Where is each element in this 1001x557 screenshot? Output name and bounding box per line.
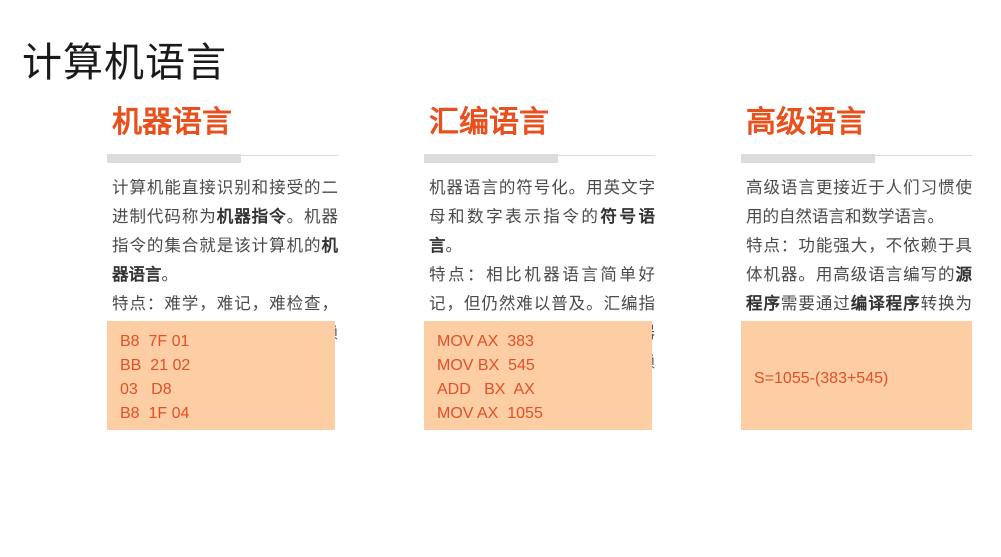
code-line: B8 1F 04 bbox=[120, 402, 335, 426]
paragraph: 高级语言更接近于人们习惯使用的自然语言和数学语言。 bbox=[746, 174, 972, 232]
code-line: MOV AX 383 bbox=[437, 330, 652, 354]
heading-divider bbox=[741, 154, 972, 166]
emphasis-term: 编译程序 bbox=[851, 295, 921, 313]
code-line: S=1055-(383+545) bbox=[754, 367, 972, 391]
code-block-assembly: MOV AX 383MOV BX 545ADD BX AXMOV AX 1055… bbox=[424, 321, 652, 430]
code-block-machine: B8 7F 01BB 21 0203 D8B8 1F 042B C3 bbox=[107, 321, 335, 430]
page-title: 计算机语言 bbox=[22, 37, 227, 89]
paragraph: 计算机能直接识别和接受的二进制代码称为机器指令。机器指令的集合就是该计算机的机器… bbox=[112, 174, 338, 290]
code-line: B8 7F 01 bbox=[120, 330, 335, 354]
divider-thick-bar bbox=[424, 154, 558, 163]
column-high-level-language: 高级语言 高级语言更接近于人们习惯使用的自然语言和数学语言。特点：功能强大，不依… bbox=[741, 104, 972, 348]
heading-divider bbox=[107, 154, 338, 166]
text-run: 需要通过 bbox=[781, 295, 851, 313]
text-run: 。 bbox=[446, 237, 463, 255]
divider-thick-bar bbox=[741, 154, 875, 163]
emphasis-term: 机器指令 bbox=[217, 208, 287, 226]
code-line: SUB AX BX bbox=[437, 426, 652, 430]
code-block-highlevel: S=1055-(383+545) bbox=[741, 321, 972, 430]
divider-thick-bar bbox=[107, 154, 241, 163]
code-line: MOV BX 545 bbox=[437, 354, 652, 378]
heading-divider bbox=[424, 154, 655, 166]
text-run: 。 bbox=[162, 266, 179, 284]
text-run: 高级语言更接近于人们习惯使用的自然语言和数学语言。 bbox=[746, 179, 972, 226]
code-line: BB 21 02 bbox=[120, 354, 335, 378]
paragraph: 机器语言的符号化。用英文字母和数字表示指令的符号语言。 bbox=[429, 174, 655, 261]
slide-root: 计算机语言 机器语言 计算机能直接识别和接受的二进制代码称为机器指令。机器指令的… bbox=[0, 0, 1001, 557]
column-heading: 高级语言 bbox=[746, 104, 972, 142]
code-line: 2B C3 bbox=[120, 426, 335, 430]
code-line: MOV AX 1055 bbox=[437, 402, 652, 426]
code-line: 03 D8 bbox=[120, 378, 335, 402]
column-heading: 汇编语言 bbox=[429, 104, 655, 142]
column-heading: 机器语言 bbox=[112, 104, 338, 142]
code-line: ADD BX AX bbox=[437, 378, 652, 402]
text-run: 特点：功能强大，不依赖于具体机器。用高级语言编写的 bbox=[746, 237, 972, 284]
